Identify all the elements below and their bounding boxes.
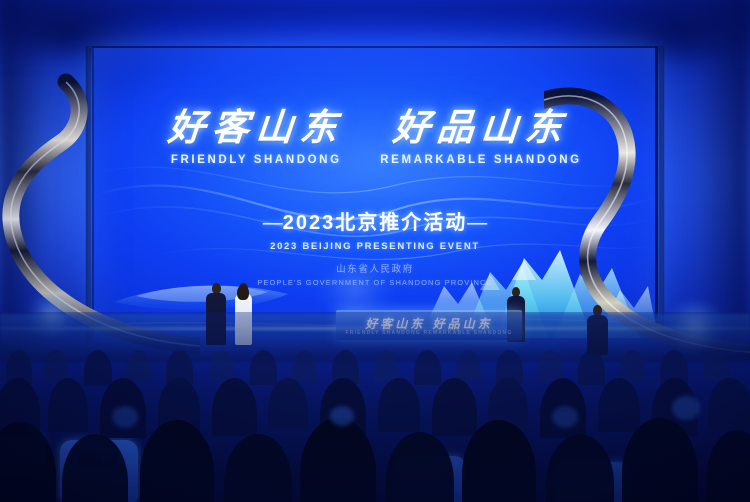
event-title-cn: 2023北京推介活动: [283, 212, 468, 234]
audience-silhouette: [84, 350, 112, 386]
headline-block-friendly: 好客山东 FRIENDLY SHANDONG: [168, 108, 344, 166]
audience-silhouette: [578, 350, 605, 385]
headline-cn-remarkable: 好品山东: [391, 108, 570, 147]
audience-silhouette: [708, 378, 750, 430]
audience-silhouette: [292, 350, 317, 382]
organiser-cn: 山东省人民政府: [336, 261, 414, 275]
event-stage-photo: 好客山东 FRIENDLY SHANDONG 好品山东 REMARKABLE S…: [0, 0, 750, 502]
audience-silhouette: [210, 350, 234, 381]
event-title-cn-wrap: —2023北京推介活动—: [263, 206, 488, 235]
organiser-line: 山东省人民政府 PEOPLE'S GOVERNMENT OF SHANDONG …: [92, 261, 658, 287]
stage-truss-pole-right: [659, 46, 664, 342]
event-title-line: —2023北京推介活动— 2023 BEIJING PRESENTING EVE…: [92, 206, 658, 252]
female-host-hair: [237, 285, 249, 300]
audience-silhouette: [414, 350, 441, 385]
audience-head-rimlit: [112, 406, 138, 428]
organiser-en: PEOPLE'S GOVERNMENT OF SHANDONG PROVINCE: [257, 278, 492, 287]
audience-foreground: [0, 312, 750, 502]
audience-silhouette: [126, 350, 151, 382]
audience-silhouette: [374, 350, 398, 381]
audience-silhouette: [620, 350, 645, 382]
audience-silhouette: [250, 350, 277, 385]
audience-head-rimlit: [672, 396, 700, 420]
event-dash-right: —: [467, 212, 487, 234]
headline-en-friendly: FRIENDLY SHANDONG: [171, 154, 342, 166]
audience-silhouette: [538, 350, 562, 381]
headline-cn-friendly: 好客山东: [167, 108, 346, 147]
audience-silhouette: [456, 350, 481, 382]
event-title-en: 2023 BEIJING PRESENTING EVENT: [270, 241, 480, 252]
stage-truss-pole-left: [86, 46, 91, 342]
audience-silhouette: [44, 350, 68, 382]
audience-head-rimlit: [552, 406, 578, 428]
headline-block-remarkable: 好品山东 REMARKABLE SHANDONG: [380, 108, 581, 166]
headline-en-remarkable: REMARKABLE SHANDONG: [380, 154, 581, 166]
audience-head-rimlit: [330, 406, 354, 426]
headline-row: 好客山东 FRIENDLY SHANDONG 好品山东 REMARKABLE S…: [92, 108, 658, 166]
event-dash-left: —: [263, 212, 283, 234]
led-screen: 好客山东 FRIENDLY SHANDONG 好品山东 REMARKABLE S…: [92, 46, 658, 338]
audience-silhouette: [704, 350, 730, 381]
